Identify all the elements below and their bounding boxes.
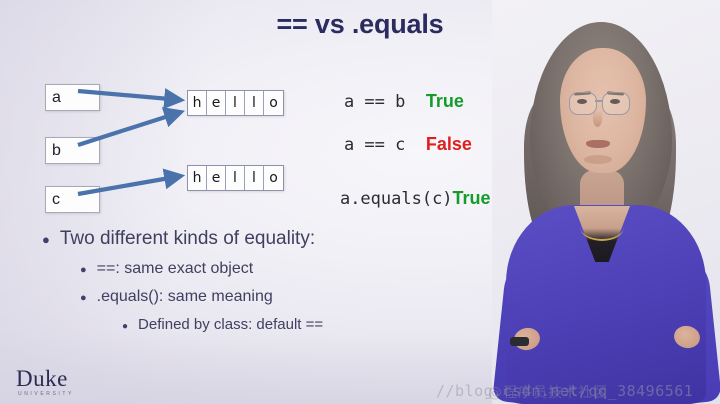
bullet-text: Defined by class: default == — [138, 316, 323, 333]
hello-array-1: h e l l o — [187, 90, 284, 116]
char-cell: o — [264, 166, 283, 190]
code-expression: a.equals(c) — [340, 189, 453, 209]
presenter-mouth — [586, 140, 610, 148]
bullet-text: .equals(): same meaning — [97, 288, 273, 306]
presenter-chin-shadow — [584, 155, 612, 164]
char-cell: h — [188, 166, 207, 190]
presenter-nose — [593, 110, 602, 127]
code-line-2: a == c False — [303, 114, 472, 175]
duke-university-logo: Duke UNIVERSITY — [16, 367, 74, 397]
bullet-dot-icon: ● — [122, 322, 128, 332]
char-cell: e — [207, 91, 226, 115]
presenter-necklace — [580, 213, 624, 241]
char-cell: l — [226, 91, 245, 115]
hello-array-2: h e l l o — [187, 165, 284, 191]
eyeglasses-bridge — [595, 100, 602, 102]
bullet-item-level1: ● Two different kinds of equality: — [42, 228, 323, 250]
lecture-slide-screenshot: == vs .equals a b c h e l l o h e l l o … — [0, 0, 720, 404]
code-result: False — [426, 134, 472, 154]
logo-subtitle: UNIVERSITY — [16, 392, 74, 397]
presenter-clicker-remote — [510, 337, 529, 346]
code-expression: a == b — [344, 92, 405, 112]
bullet-text: Two different kinds of equality: — [60, 228, 315, 250]
bullet-item-level2-equals-method: ● .equals(): same meaning — [80, 288, 323, 306]
char-cell: e — [207, 166, 226, 190]
char-cell: l — [245, 166, 264, 190]
char-cell: l — [226, 166, 245, 190]
code-result: True — [453, 188, 491, 208]
char-cell: o — [264, 91, 283, 115]
presenter-video-overlay — [492, 0, 720, 404]
char-cell: h — [188, 91, 207, 115]
bullet-dot-icon: ● — [80, 265, 87, 276]
code-result: True — [426, 91, 464, 111]
code-line-3: a.equals(c)True — [299, 168, 491, 229]
logo-wordmark: Duke — [16, 367, 74, 390]
bullet-list: ● Two different kinds of equality: ● ==:… — [42, 228, 323, 333]
bullet-item-level3: ● Defined by class: default == — [122, 316, 323, 333]
bullet-item-level2-equals-operator: ● ==: same exact object — [80, 260, 323, 278]
bullet-text: ==: same exact object — [97, 260, 254, 278]
code-expression: a == c — [344, 135, 405, 155]
eyeglasses-lens-right — [602, 92, 630, 115]
bullet-dot-icon: ● — [80, 293, 87, 304]
bullet-dot-icon: ● — [42, 233, 50, 246]
char-cell: l — [245, 91, 264, 115]
